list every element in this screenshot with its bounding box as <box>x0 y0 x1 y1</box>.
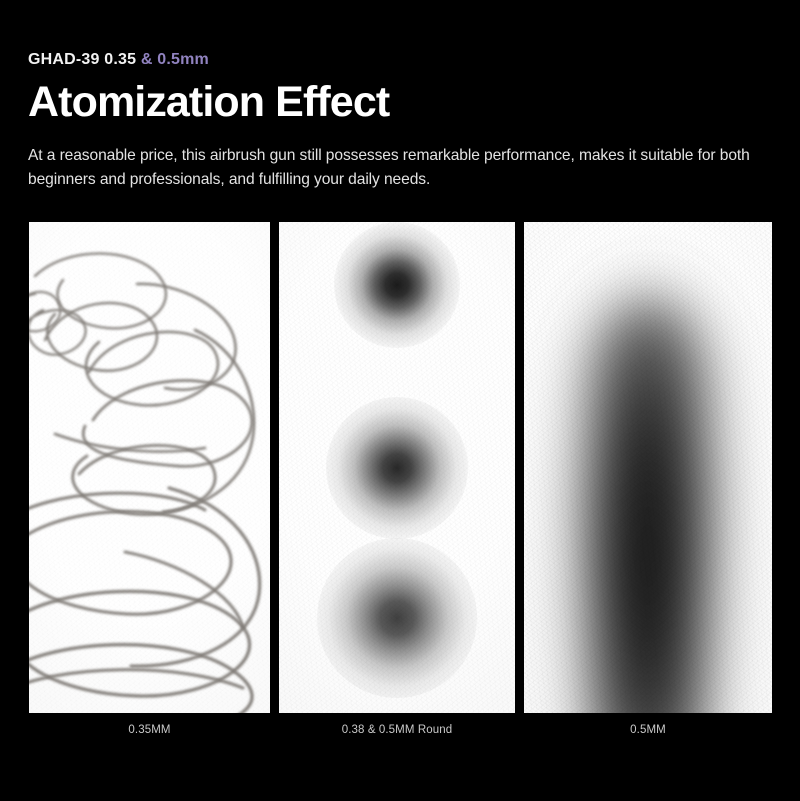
caption-round-dots: 0.38 & 0.5MM Round <box>279 720 515 740</box>
spray-sample-captions: 0.35MM 0.38 & 0.5MM Round 0.5MM <box>29 720 772 740</box>
spray-sample-panel-fine-line <box>29 222 270 713</box>
caption-wide-stripe: 0.5MM <box>524 720 772 740</box>
product-model-code: GHAD-39 0.35 <box>28 51 141 68</box>
caption-fine-line: 0.35MM <box>29 720 270 740</box>
spray-dot-bottom <box>317 538 477 698</box>
page-subtitle: At a reasonable price, this airbrush gun… <box>28 144 772 192</box>
spray-dot-middle <box>326 397 468 539</box>
loop-scribble-artwork <box>29 222 270 713</box>
spray-sample-gallery <box>29 222 772 713</box>
page-title: Atomization Effect <box>28 80 772 125</box>
spray-sample-panel-round-dots <box>279 222 515 713</box>
product-model-variant: & 0.5mm <box>141 51 209 68</box>
spray-sample-image-fine-line <box>29 222 270 713</box>
spray-sample-image-round-dots <box>279 222 515 713</box>
spray-dot-top <box>334 222 460 348</box>
spray-sample-panel-wide-stripe <box>524 222 772 713</box>
product-detail-page: GHAD-39 0.35 & 0.5mm Atomization Effect … <box>0 0 800 801</box>
product-model-eyebrow: GHAD-39 0.35 & 0.5mm <box>28 50 772 70</box>
spray-stripe-core <box>589 296 707 713</box>
spray-sample-image-wide-stripe <box>524 222 772 713</box>
header: GHAD-39 0.35 & 0.5mm Atomization Effect … <box>28 50 772 192</box>
